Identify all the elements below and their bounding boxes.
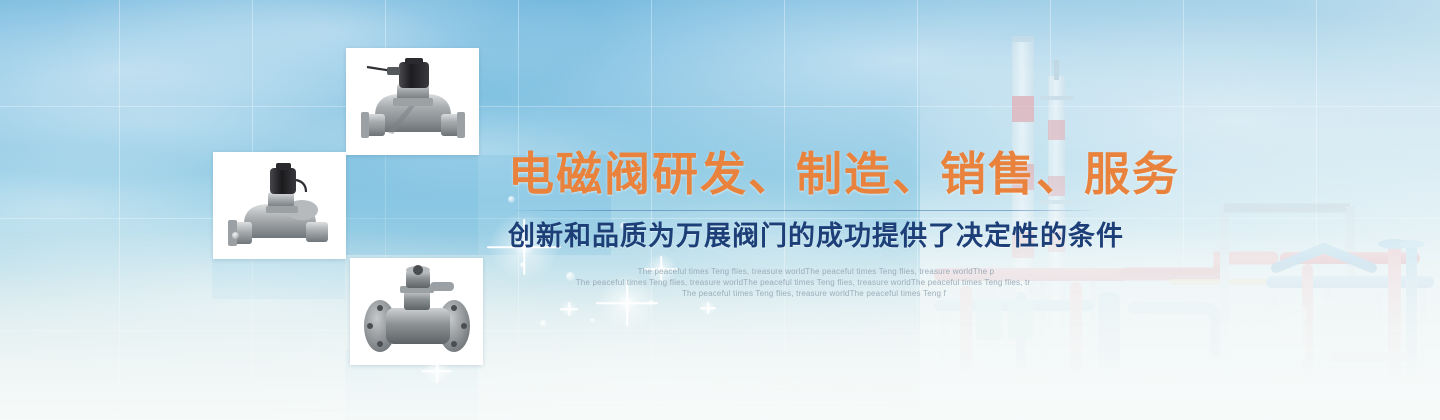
sparkle-small-1 <box>560 300 578 318</box>
promo-banner: 电磁阀研发、制造、销售、服务 创新和品质为万展阀门的成功提供了决定性的条件 Th… <box>0 0 1440 420</box>
product-image-3 <box>350 258 483 365</box>
banner-headline: 电磁阀研发、制造、销售、服务 <box>508 148 1098 200</box>
bokeh-dot-7 <box>590 318 595 323</box>
blurb-line-3: The peaceful times Teng flies, treasure … <box>508 288 1098 299</box>
sparkle-small-2 <box>700 300 716 316</box>
banner-blurb: The peaceful times Teng flies, treasure … <box>508 266 1098 299</box>
bokeh-dot-6 <box>540 320 547 327</box>
headline-divider <box>514 210 1092 211</box>
blurb-line-2: The peaceful times Teng flies, treasure … <box>508 277 1098 288</box>
product-card-3[interactable] <box>350 258 483 365</box>
product-card-2[interactable] <box>213 152 346 259</box>
product-image-1 <box>346 48 479 155</box>
blurb-line-1: The peaceful times Teng flies, treasure … <box>508 266 1098 277</box>
bokeh-dot-5 <box>648 300 654 306</box>
banner-subheadline: 创新和品质为万展阀门的成功提供了决定性的条件 <box>508 220 1098 252</box>
product-card-1[interactable] <box>346 48 479 155</box>
product-image-2 <box>213 152 346 259</box>
banner-copy: 电磁阀研发、制造、销售、服务 创新和品质为万展阀门的成功提供了决定性的条件 Th… <box>508 148 1098 299</box>
